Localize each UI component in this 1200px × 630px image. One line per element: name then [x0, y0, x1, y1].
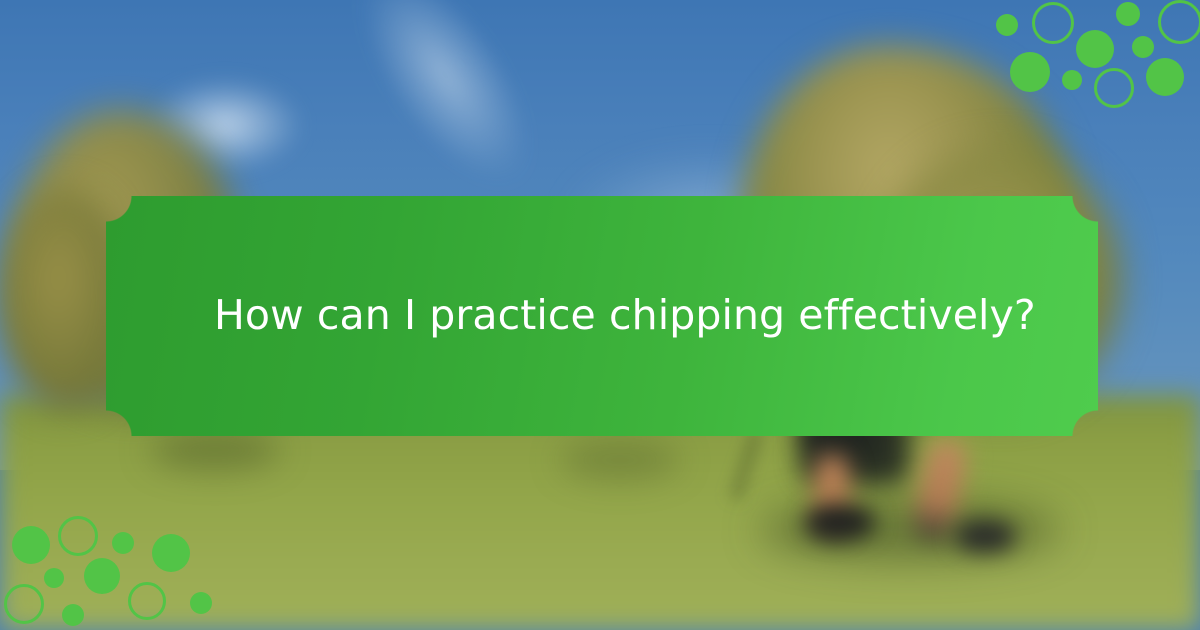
golfer-shoe-left [805, 505, 875, 540]
headline-banner: How can I practice chipping effectively? [106, 196, 1098, 436]
grass-shadow-patch-one [150, 430, 280, 470]
share-card-canvas: How can I practice chipping effectively? [0, 0, 1200, 630]
golfer-shoe-right [955, 520, 1015, 552]
grass-shadow-patch-two [560, 440, 680, 480]
golfer-ground-shadow [760, 500, 1060, 560]
page-title: How can I practice chipping effectively? [106, 290, 1096, 341]
